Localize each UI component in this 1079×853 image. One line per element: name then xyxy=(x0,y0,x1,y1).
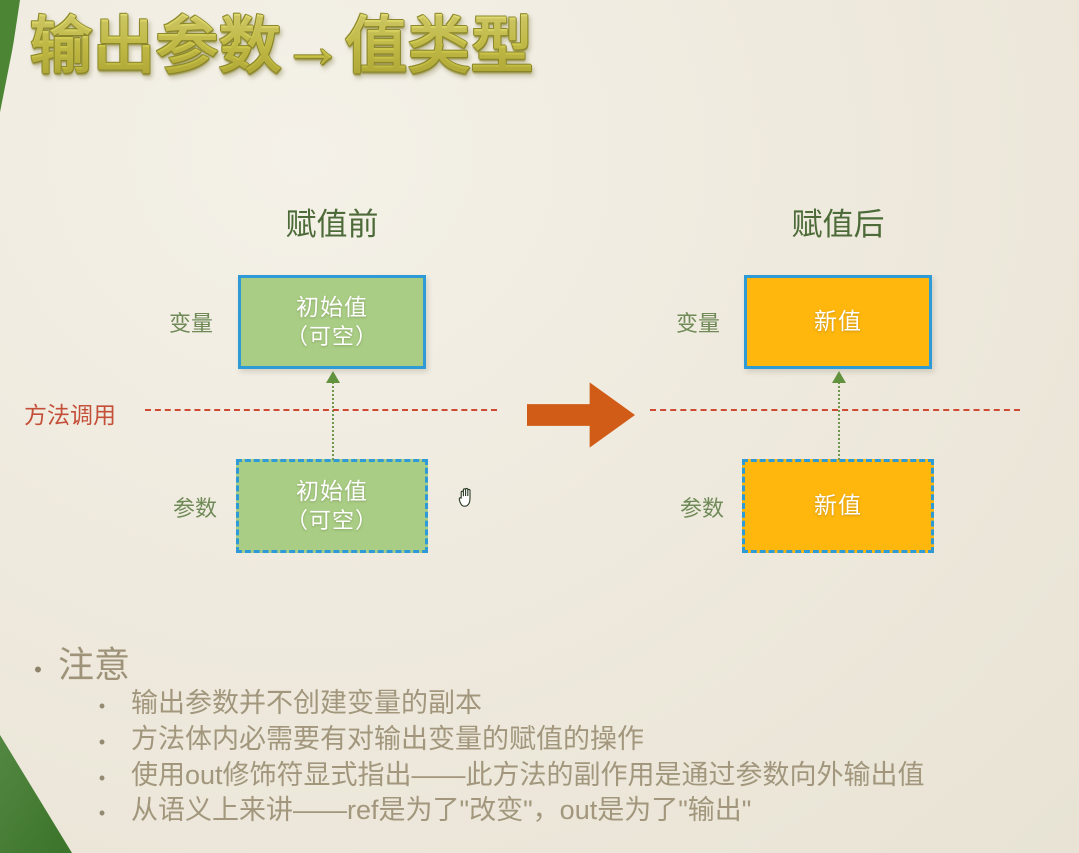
before-variable-box-line2: （可空） xyxy=(286,323,378,351)
before-assignment-arrow-icon xyxy=(326,371,340,383)
notes-list: • 注意 • 输出参数并不创建变量的副本 • 方法体内必需要有对输出变量的赋值的… xyxy=(18,644,1058,829)
after-assignment-connector-line xyxy=(838,382,840,460)
list-item-label: 使用out修饰符显式指出——此方法的副作用是通过参数向外输出值 xyxy=(131,758,925,794)
after-parameter-label: 参数 xyxy=(680,491,724,523)
list-item: • 从语义上来讲——ref是为了"改变"，out是为了"输出" xyxy=(18,793,1058,829)
list-item: • 输出参数并不创建变量的副本 xyxy=(18,686,1058,722)
before-parameter-box[interactable]: 初始值 （可空） xyxy=(236,459,428,553)
top-left-green-accent xyxy=(0,0,26,132)
list-item-label: 从语义上来讲——ref是为了"改变"，out是为了"输出" xyxy=(131,793,751,829)
bullet-icon: • xyxy=(73,695,131,719)
slide-canvas: 输出参数→值类型 赋值前 变量 参数 初始值 （可空） 初始值 （可空） 方法调… xyxy=(0,0,1079,853)
method-call-divider-left xyxy=(145,409,497,411)
before-parameter-box-line1: 初始值 xyxy=(296,477,368,506)
list-item-label: 方法体内必需要有对输出变量的赋值的操作 xyxy=(131,722,644,758)
list-item: • 方法体内必需要有对输出变量的赋值的操作 xyxy=(18,722,1058,758)
method-call-label: 方法调用 xyxy=(24,396,116,430)
before-parameter-box-line2: （可空） xyxy=(286,507,378,535)
before-parameter-label: 参数 xyxy=(173,491,217,523)
after-variable-box-line1: 新值 xyxy=(814,307,862,336)
bullet-icon: • xyxy=(73,731,131,755)
before-variable-label: 变量 xyxy=(169,306,213,338)
after-panel-heading: 赋值后 xyxy=(792,199,885,244)
transition-arrow-icon xyxy=(527,381,635,449)
after-assignment-arrow-icon xyxy=(832,371,846,383)
after-parameter-box-line1: 新值 xyxy=(814,491,862,520)
bullet-icon: • xyxy=(73,802,131,826)
notes-heading-row: • 注意 xyxy=(18,644,1058,686)
bullet-icon: • xyxy=(73,767,131,791)
before-variable-box-line1: 初始值 xyxy=(296,293,368,322)
list-item-label: 输出参数并不创建变量的副本 xyxy=(131,686,482,722)
after-variable-box[interactable]: 新值 xyxy=(744,275,932,369)
grab-hand-cursor-icon xyxy=(457,485,477,509)
after-variable-label: 变量 xyxy=(676,306,720,338)
list-item: • 使用out修饰符显式指出——此方法的副作用是通过参数向外输出值 xyxy=(18,758,1058,794)
bullet-icon: • xyxy=(18,657,58,683)
before-assignment-connector-line xyxy=(332,382,334,460)
after-parameter-box[interactable]: 新值 xyxy=(742,459,934,553)
before-panel-heading: 赋值前 xyxy=(286,199,379,244)
page-title: 输出参数→值类型 xyxy=(30,8,534,86)
notes-heading: 注意 xyxy=(58,644,130,686)
method-call-divider-right xyxy=(650,409,1020,411)
before-variable-box[interactable]: 初始值 （可空） xyxy=(238,275,426,369)
